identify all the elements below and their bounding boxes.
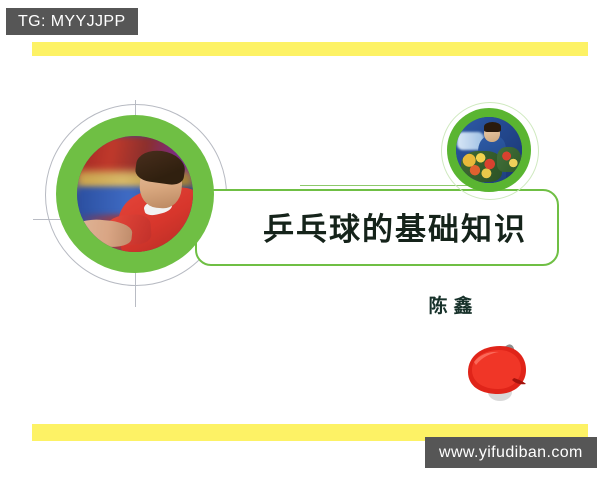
bouquet-right [497, 147, 521, 172]
paddle-icon [462, 340, 554, 404]
athlete-hair [484, 122, 501, 131]
bottom-watermark-badge: www.yifudiban.com [425, 437, 597, 468]
small-photo-ring [447, 108, 531, 192]
main-photo-ring [56, 115, 214, 273]
page-title: 乒乓球的基础知识 [250, 198, 540, 254]
top-yellow-band [32, 42, 588, 56]
top-watermark-badge: TG: MYYJJPP [6, 8, 138, 35]
small-photo [456, 117, 522, 183]
author-name: 陈鑫 [398, 289, 503, 319]
slide-canvas: 乒乓球的基础知识 陈鑫 [0, 0, 600, 480]
main-photo [77, 136, 193, 252]
